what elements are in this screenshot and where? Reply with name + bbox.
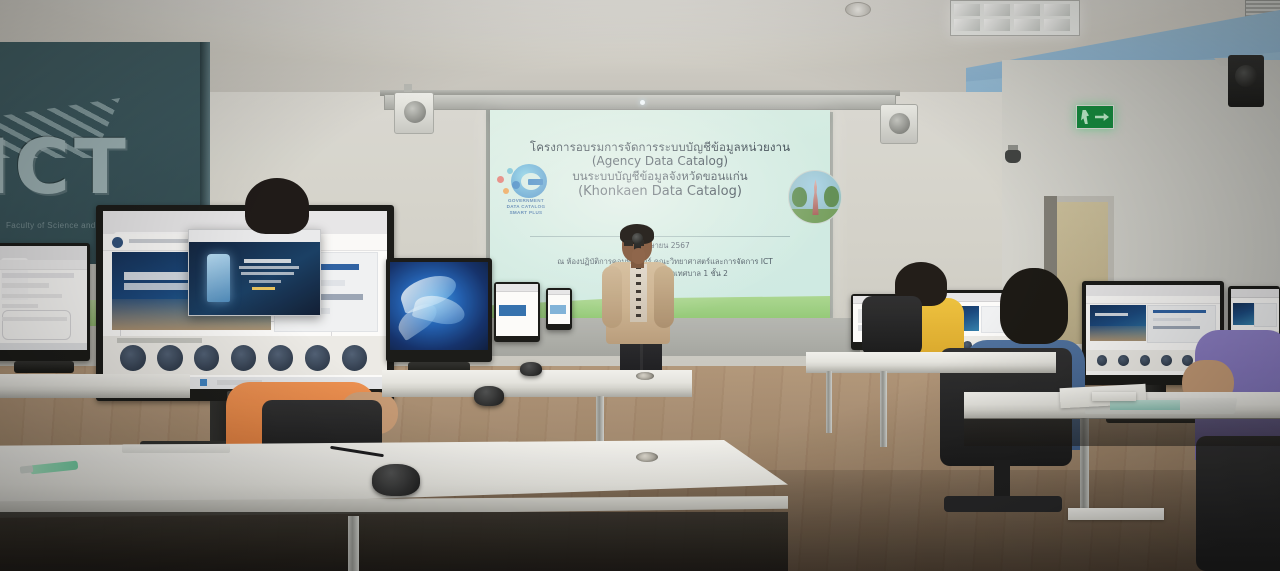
category-icon-7[interactable] xyxy=(342,345,368,371)
category-icon-row[interactable] xyxy=(103,336,387,375)
exit-sign xyxy=(1076,105,1114,129)
monitor-mid-left-win11 xyxy=(386,258,492,362)
classroom-photo-scene: ICT Faculty of Science and ICT / Learnin… xyxy=(0,0,1280,571)
category-icon-5[interactable] xyxy=(268,345,294,371)
mouse-foreground[interactable] xyxy=(372,464,420,496)
presenter-button-placket xyxy=(636,266,641,322)
housing-indicator-led xyxy=(640,100,645,105)
category-icon-4[interactable] xyxy=(231,345,257,371)
teal-desk-pad xyxy=(1110,400,1180,410)
monitor-foreground-center xyxy=(96,205,394,401)
monitor-behind-2 xyxy=(546,288,572,330)
windows11-wallpaper xyxy=(390,262,488,350)
participant-blue-head xyxy=(1000,268,1068,344)
category-row-label xyxy=(117,338,202,343)
popup-line2 xyxy=(239,266,299,269)
category-icon-6[interactable] xyxy=(305,345,331,371)
popup-line4 xyxy=(249,280,280,283)
award-popup-window[interactable] xyxy=(188,229,321,316)
presenter-arm-left xyxy=(602,266,622,328)
wall-speaker-left xyxy=(394,92,434,134)
recessed-downlight xyxy=(845,2,871,17)
popup-title xyxy=(244,259,291,263)
popup-body xyxy=(189,242,320,315)
monitor-behind-1 xyxy=(494,282,540,342)
mouse-right[interactable] xyxy=(520,362,542,376)
desk-mid-left-edge xyxy=(382,388,692,397)
desk-right-back-edge xyxy=(806,366,1056,373)
presenter-hand xyxy=(632,248,645,264)
papers-right-back xyxy=(1092,392,1136,401)
category-icon-3[interactable] xyxy=(194,345,220,371)
category-icon-2[interactable] xyxy=(157,345,183,371)
desk-leg-right-back-2 xyxy=(826,371,832,433)
start-button-icon[interactable] xyxy=(200,379,207,386)
monitor-left-edge-content xyxy=(0,246,87,350)
ceiling-troffer-light-right xyxy=(950,0,1080,36)
keyboard-foreground[interactable] xyxy=(122,444,230,453)
monitor-left-edge-stand xyxy=(14,361,74,373)
running-man-icon xyxy=(1081,110,1089,124)
popup-line3 xyxy=(241,272,293,275)
desk-foreground-underside xyxy=(0,512,788,571)
monitor-left-edge xyxy=(0,243,90,361)
site-logo-icon xyxy=(112,237,123,248)
desk-left-back-edge xyxy=(0,390,190,398)
desk-right-middle-underside xyxy=(964,418,1280,446)
mouse-mid-left[interactable] xyxy=(474,386,504,406)
participant-orange-head xyxy=(245,178,309,234)
wall-speaker-center-right xyxy=(880,104,918,144)
exit-arrow-icon xyxy=(1095,113,1109,121)
security-camera-icon xyxy=(1005,150,1021,163)
desk-leg-right-back xyxy=(880,371,887,447)
category-icon-1[interactable] xyxy=(120,345,146,371)
cable-grommet-mid-left xyxy=(636,372,654,380)
pen-cap xyxy=(20,465,34,473)
cable-grommet-foreground xyxy=(636,452,658,462)
presenter-arm-right xyxy=(654,266,674,328)
wall-speaker-right xyxy=(1228,55,1264,107)
catalog-website-view[interactable] xyxy=(103,211,387,389)
microphone-head-icon xyxy=(632,233,643,244)
office-chair-far-right[interactable] xyxy=(1196,436,1280,571)
award-trophy-image xyxy=(207,254,229,302)
office-chair-right-1[interactable] xyxy=(862,296,922,356)
desk-leg-foreground xyxy=(348,516,359,571)
popup-highlight xyxy=(252,287,276,290)
papers-lower-shelf xyxy=(1068,508,1164,520)
chair-base-right-2 xyxy=(944,496,1062,512)
hero-subheading xyxy=(124,283,188,290)
